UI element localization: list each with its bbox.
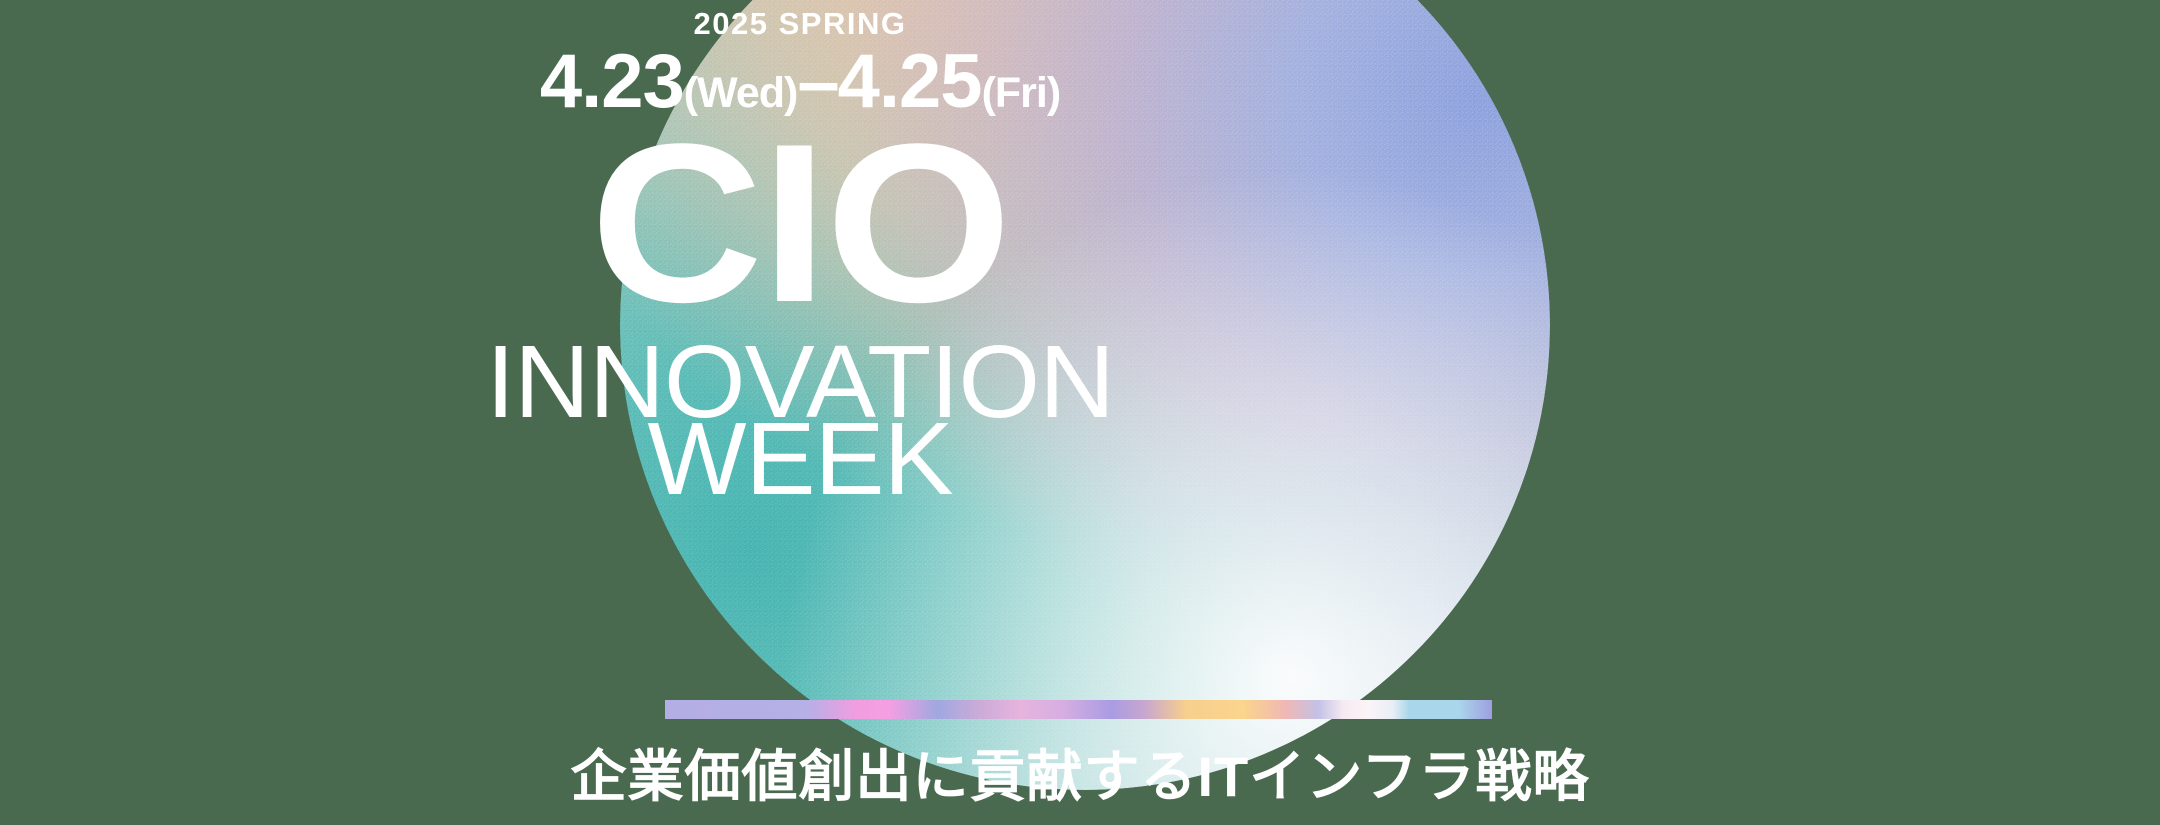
logo-line-week: WEEK: [0, 407, 1616, 510]
event-tagline: 企業価値創出に貢献するITインフラ戦略: [0, 742, 2160, 812]
hero-content: 2025 SPRING 4.23(Wed)–4.25(Fri) CIO INNO…: [0, 0, 2160, 825]
hero-banner: 2025 SPRING 4.23(Wed)–4.25(Fri) CIO INNO…: [0, 0, 2160, 825]
season-label: 2025 SPRING: [0, 8, 1600, 39]
rainbow-divider-bar: [665, 700, 1492, 719]
logo-line-cio: CIO: [0, 110, 1648, 336]
